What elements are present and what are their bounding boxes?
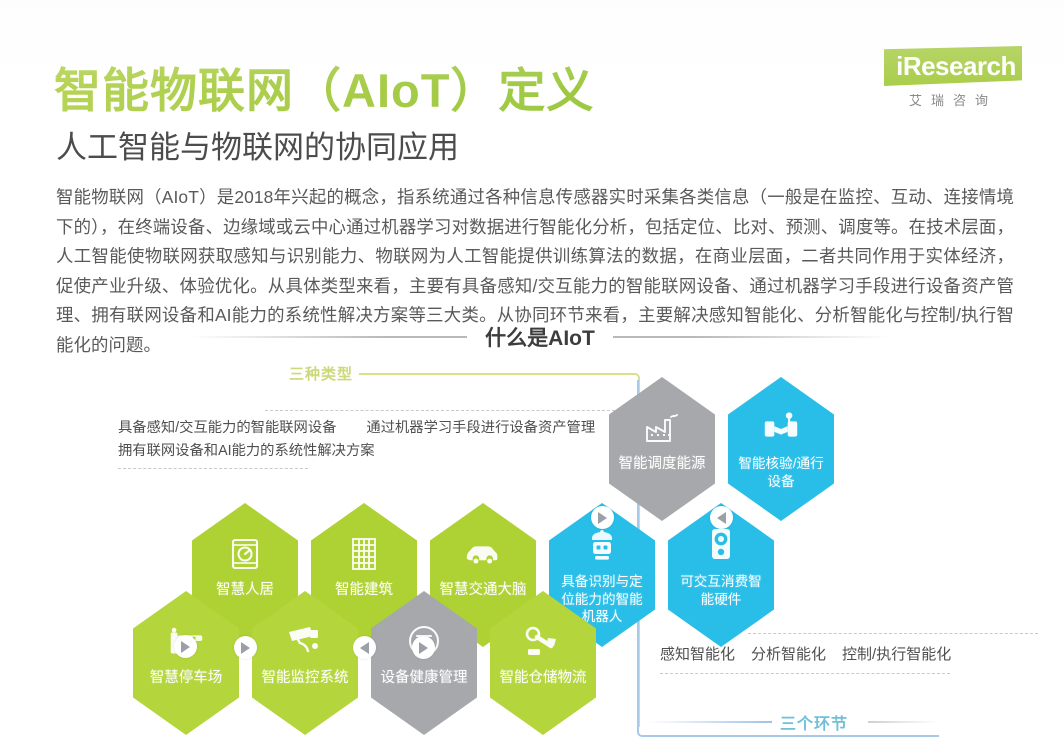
hex-label: 智能核验/通行设备 (735, 455, 827, 490)
logo-chinese-name: 艾瑞咨询 (884, 90, 1022, 109)
hex-label: 智能仓储物流 (497, 669, 589, 688)
type-description-1: 具备感知/交互能力的智能联网设备 (118, 420, 336, 436)
steps-rule-right (868, 721, 938, 723)
type-description-2: 通过机器学习手段进行设备资产管理 (366, 420, 595, 436)
arrow-left-icon (710, 506, 733, 529)
arrow-right-icon (174, 635, 197, 658)
arrow-right-icon (591, 506, 614, 529)
step-label-2: 分析智能化 (751, 643, 826, 664)
steps-dash-bottom (660, 673, 950, 674)
arrow-right-icon (234, 636, 257, 659)
step-label-3: 控制/执行智能化 (842, 643, 951, 664)
hex-label: 可交互消费智能硬件 (675, 573, 767, 608)
smart-home-icon (224, 533, 266, 575)
step-label-1: 感知智能化 (660, 643, 735, 664)
building-icon (343, 533, 385, 575)
smart-speaker-icon (700, 525, 742, 567)
chart-title-row: 什么是AIoT (190, 322, 890, 352)
arrow-left-icon (353, 636, 376, 659)
steps-group-label: 三个环节 (772, 710, 856, 734)
chart-title-rule-right (613, 336, 890, 338)
hex-label: 智慧停车场 (140, 669, 232, 688)
logo-dot-icon (892, 40, 901, 49)
hex-label: 智能监控系统 (259, 669, 351, 688)
page-subtitle: 人工智能与物联网的协同应用 (56, 122, 459, 167)
steps-rule-left (648, 721, 773, 723)
steps-description-block: 感知智能化 分析智能化 控制/执行智能化 (660, 643, 1040, 664)
types-group-label: 三种类型 (283, 363, 359, 384)
hex-label: 设备健康管理 (378, 669, 470, 688)
hex-label: 智能调度能源 (616, 455, 708, 474)
page-title: 智能物联网（AIoT）定义 (54, 52, 594, 121)
cctv-camera-icon (284, 621, 326, 663)
chart-title: 什么是AIoT (485, 322, 595, 352)
types-description-block: 具备感知/交互能力的智能联网设备 通过机器学习手段进行设备资产管理 拥有联网设备… (118, 417, 638, 463)
slide-page: 智能物联网（AIoT）定义 人工智能与物联网的协同应用 iResearch 艾瑞… (0, 0, 1064, 742)
chart-title-rule-left (190, 336, 467, 338)
steps-dash-top (748, 633, 1038, 634)
iresearch-logo: iResearch 艾瑞咨询 (884, 46, 1024, 108)
hex-label: 智慧人居 (199, 581, 291, 600)
logo-mark-shape: iResearch (884, 46, 1022, 86)
types-dash-top (265, 410, 625, 411)
types-dash-bottom (118, 468, 308, 469)
arrow-right-icon (412, 636, 435, 659)
hex-label: 智能建筑 (318, 581, 410, 600)
car-icon (462, 533, 504, 575)
robot-icon (581, 525, 623, 567)
hex-label: 智慧交通大脑 (437, 581, 529, 600)
factory-icon (641, 407, 683, 449)
type-description-3: 拥有联网设备和AI能力的系统性解决方案 (118, 440, 638, 463)
gate-turnstile-icon (760, 407, 802, 449)
robot-arm-icon (522, 621, 564, 663)
logo-wordmark: iResearch (890, 50, 1022, 82)
aiot-diagram: 三种类型 具备感知/交互能力的智能联网设备 通过机器学习手段进行设备资产管理 拥… (0, 355, 1064, 742)
